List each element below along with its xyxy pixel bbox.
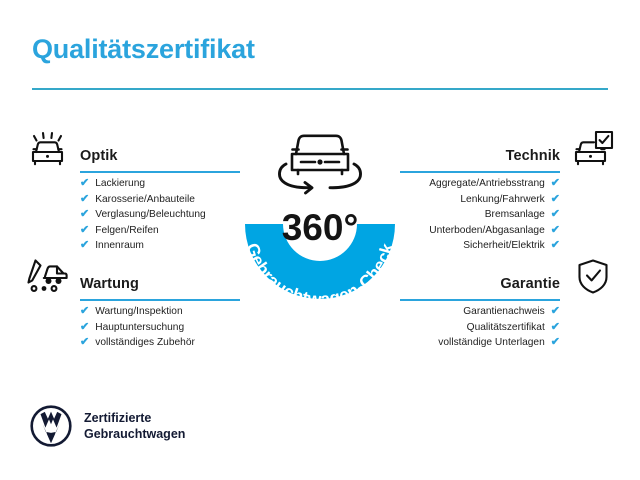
list-item-label: Lackierung xyxy=(95,176,145,192)
qualitaetszertifikat-infographic: Qualitätszertifikat xyxy=(0,0,640,480)
360-gebrauchtwagen-check-badge: Gebrauchtwagen-Check 360° xyxy=(229,112,411,312)
list-item: ✔Hauptuntersuchung xyxy=(80,320,262,336)
list-item-label: Sicherheit/Elektrik xyxy=(463,238,545,254)
check-icon: ✔ xyxy=(80,209,89,220)
list-item: ✔vollständiges Zubehör xyxy=(80,335,262,351)
footer-line-1: Zertifizierte xyxy=(84,410,185,426)
footer-line-2: Gebrauchtwagen xyxy=(84,426,185,442)
badge-center-label: 360° xyxy=(282,207,359,248)
section-underline xyxy=(400,171,560,173)
section-underline xyxy=(400,299,560,301)
car-service-pen-icon xyxy=(24,256,70,296)
check-icon: ✔ xyxy=(551,240,560,251)
section-technik: Technik Aggregate/Antriebsstrang✔ Lenkun… xyxy=(378,130,618,254)
check-icon: ✔ xyxy=(551,209,560,220)
list-item-label: Innenraum xyxy=(95,238,144,254)
section-underline xyxy=(80,299,240,301)
list-item-label: Garantienachweis xyxy=(463,304,545,320)
list-item-label: Verglasung/Beleuchtung xyxy=(95,207,205,223)
check-icon: ✔ xyxy=(80,306,89,317)
list-item-label: vollständiges Zubehör xyxy=(95,335,195,351)
check-icon: ✔ xyxy=(80,240,89,251)
footer-text: Zertifizierte Gebrauchtwagen xyxy=(84,410,185,442)
section-title: Technik xyxy=(506,148,560,164)
list-item-label: Wartung/Inspektion xyxy=(95,304,182,320)
list-item-label: Hauptuntersuchung xyxy=(95,320,184,336)
section-garantie: Garantie Garantienachweis✔ Qualitätszert… xyxy=(378,258,618,351)
section-header: Garantie xyxy=(378,258,618,304)
section-header: Optik xyxy=(22,130,262,176)
section-optik: Optik ✔Lackierung ✔Karosserie/Anbauteile… xyxy=(22,130,262,254)
list-item-label: vollständige Unterlagen xyxy=(438,335,544,351)
section-underline xyxy=(80,171,240,173)
check-icon: ✔ xyxy=(80,194,89,205)
car-rotation-icon xyxy=(279,136,360,193)
check-icon: ✔ xyxy=(551,322,560,333)
check-icon: ✔ xyxy=(551,178,560,189)
list-item: Qualitätszertifikat✔ xyxy=(378,320,560,336)
vw-certified-footer: Zertifizierte Gebrauchtwagen xyxy=(30,405,185,447)
section-header: Wartung xyxy=(22,258,262,304)
section-wartung: Wartung ✔Wartung/Inspektion ✔Hauptunters… xyxy=(22,258,262,351)
list-item: vollständige Unterlagen✔ xyxy=(378,335,560,351)
list-item-label: Aggregate/Antriebsstrang xyxy=(429,176,545,192)
check-icon: ✔ xyxy=(551,225,560,236)
car-checkbox-icon xyxy=(570,128,616,168)
check-icon: ✔ xyxy=(80,322,89,333)
list-item-label: Bremsanlage xyxy=(485,207,545,223)
list-item-label: Karosserie/Anbauteile xyxy=(95,192,195,208)
list-item-label: Lenkung/Fahrwerk xyxy=(460,192,544,208)
check-icon: ✔ xyxy=(551,337,560,348)
section-title: Optik xyxy=(80,148,118,164)
list-item-label: Qualitätszertifikat xyxy=(467,320,545,336)
page-title: Qualitätszertifikat xyxy=(32,34,255,65)
list-item-label: Unterboden/Abgasanlage xyxy=(429,223,545,239)
check-icon: ✔ xyxy=(80,178,89,189)
list-item-label: Felgen/Reifen xyxy=(95,223,158,239)
section-title: Garantie xyxy=(500,276,560,292)
check-icon: ✔ xyxy=(80,337,89,348)
section-title: Wartung xyxy=(80,276,139,292)
check-icon: ✔ xyxy=(551,306,560,317)
shield-check-icon xyxy=(570,256,616,296)
check-icon: ✔ xyxy=(80,225,89,236)
section-header: Technik xyxy=(378,130,618,176)
check-icon: ✔ xyxy=(551,194,560,205)
car-shine-icon xyxy=(24,128,70,168)
vw-logo xyxy=(30,405,72,447)
title-divider xyxy=(32,88,608,90)
